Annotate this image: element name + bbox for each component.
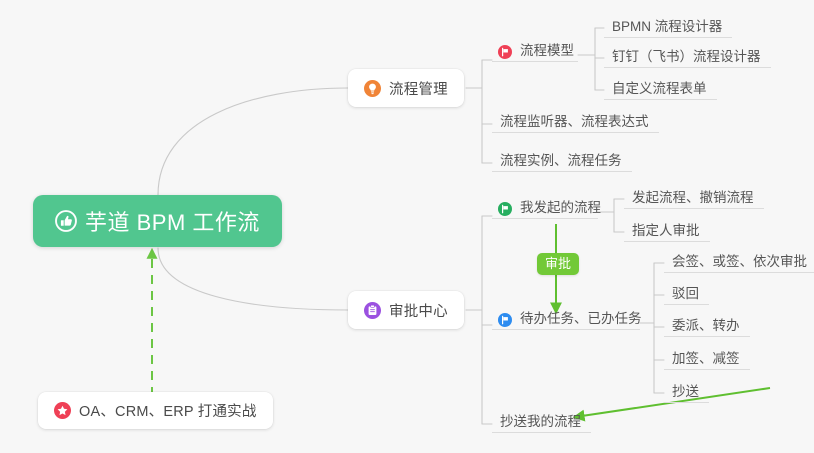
leaf-countersign[interactable]: 会签、或签、依次审批 <box>664 245 814 273</box>
leaf-label: 委派、转办 <box>672 318 740 334</box>
root-node[interactable]: 芋道 BPM 工作流 <box>33 195 282 247</box>
leaf-label: 加签、减签 <box>672 351 740 367</box>
leaf-dingtalk-feishu-designer[interactable]: 钉钉（飞书）流程设计器 <box>604 40 771 68</box>
footnote-node[interactable]: OA、CRM、ERP 打通实战 <box>38 392 273 429</box>
flag-icon <box>498 202 512 216</box>
node-my-started-process[interactable]: 我发起的流程 <box>492 191 598 219</box>
leaf-label: 指定人审批 <box>632 223 700 239</box>
node-label: 我发起的流程 <box>520 200 601 216</box>
leaf-bpmn-designer[interactable]: BPMN 流程设计器 <box>604 10 732 38</box>
lightbulb-icon <box>364 80 381 97</box>
leaf-label: 自定义流程表单 <box>612 81 707 97</box>
approval-flow-chip[interactable]: 审批 <box>537 253 579 275</box>
leaf-custom-process-form[interactable]: 自定义流程表单 <box>604 72 717 100</box>
leaf-label: 抄送 <box>672 384 699 400</box>
node-process-model[interactable]: 流程模型 <box>492 34 578 62</box>
leaf-assignee-approval[interactable]: 指定人审批 <box>624 214 710 242</box>
branch-label: 流程管理 <box>389 78 448 99</box>
branch-approval-center[interactable]: 审批中心 <box>348 291 464 329</box>
flag-icon <box>498 313 512 327</box>
node-label: 流程模型 <box>520 43 574 59</box>
leaf-add-remove-sign[interactable]: 加签、减签 <box>664 342 750 370</box>
leaf-label: 流程监听器、流程表达式 <box>500 114 649 130</box>
leaf-instance-task[interactable]: 流程实例、流程任务 <box>492 144 632 172</box>
leaf-label: 钉钉（飞书）流程设计器 <box>612 49 761 65</box>
leaf-cc-to-me[interactable]: 抄送我的流程 <box>492 405 591 433</box>
leaf-listener-expression[interactable]: 流程监听器、流程表达式 <box>492 105 659 133</box>
leaf-reject[interactable]: 驳回 <box>664 277 709 305</box>
leaf-label: 会签、或签、依次审批 <box>672 254 807 270</box>
root-label: 芋道 BPM 工作流 <box>85 205 260 237</box>
leaf-label: 抄送我的流程 <box>500 414 581 430</box>
leaf-delegate-transfer[interactable]: 委派、转办 <box>664 309 750 337</box>
leaf-label: 发起流程、撤销流程 <box>632 190 754 206</box>
leaf-label: 驳回 <box>672 286 699 302</box>
star-icon <box>54 402 71 419</box>
flag-icon <box>498 45 512 59</box>
leaf-label: BPMN 流程设计器 <box>612 19 722 35</box>
clipboard-icon <box>364 302 381 319</box>
leaf-label: 流程实例、流程任务 <box>500 153 622 169</box>
footnote-label: OA、CRM、ERP 打通实战 <box>79 400 257 421</box>
leaf-start-cancel-process[interactable]: 发起流程、撤销流程 <box>624 181 764 209</box>
thumbs-up-icon <box>55 210 77 232</box>
node-label: 待办任务、已办任务 <box>520 311 642 327</box>
leaf-carbon-copy[interactable]: 抄送 <box>664 375 709 403</box>
branch-label: 审批中心 <box>389 300 448 321</box>
node-todo-done-tasks[interactable]: 待办任务、已办任务 <box>492 302 640 330</box>
branch-process-management[interactable]: 流程管理 <box>348 69 464 107</box>
mindmap-canvas: 芋道 BPM 工作流 流程管理 流程模型 BPMN 流程设计器 钉钉（飞书）流程 <box>0 0 814 453</box>
chip-label: 审批 <box>545 256 571 271</box>
